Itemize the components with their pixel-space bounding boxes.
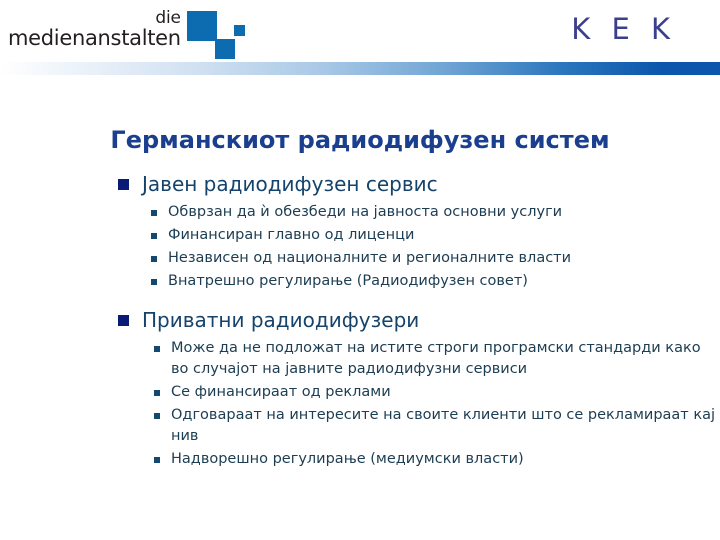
slide-content: Јавен радиодифузен сервис Обврзан да ѝ о… — [0, 154, 720, 470]
section-heading-label: Приватни радиодифузери — [142, 307, 419, 334]
section-spacer — [0, 294, 720, 307]
level2-bullet-icon — [154, 413, 160, 419]
logo-line-medienanstalten: medienanstalten — [8, 28, 181, 49]
die-medienanstalten-logo: die medienanstalten — [8, 8, 253, 61]
list-item-label: Обврзан да ѝ обезбеди на јавноста основн… — [168, 202, 562, 223]
list-item: Независен од националните и регионалните… — [151, 248, 720, 269]
level2-bullet-icon — [154, 457, 160, 463]
level2-bullet-icon — [151, 210, 157, 216]
list-item-label: Финансиран главно од лиценци — [168, 225, 414, 246]
logo-line-die: die — [155, 10, 180, 27]
list-item-label: Може да не подложат на истите строги про… — [171, 338, 720, 380]
slide-header: die medienanstalten K E K — [0, 0, 720, 62]
level1-bullet-icon — [118, 315, 129, 326]
section-heading-public-broadcasting: Јавен радиодифузен сервис — [0, 171, 720, 198]
list-item: Одговараат на интересите на своите клиен… — [154, 405, 720, 447]
logo-square-large-icon — [187, 11, 217, 41]
section-heading-private-broadcasters: Приватни радиодифузери — [0, 307, 720, 334]
slide-body: Германскиот радиодифузен систем Јавен ра… — [0, 75, 720, 470]
section-heading-label: Јавен радиодифузен сервис — [142, 171, 438, 198]
kek-logo: K E K — [571, 12, 676, 46]
list-item-label: Се финансираат од реклами — [171, 382, 391, 403]
level2-bullet-icon — [154, 346, 160, 352]
list-item-label: Независен од националните и регионалните… — [168, 248, 571, 269]
header-gradient-bar — [0, 62, 720, 75]
list-item-label: Одговараат на интересите на своите клиен… — [171, 405, 720, 447]
level2-bullet-icon — [151, 233, 157, 239]
list-item: Може да не подложат на истите строги про… — [154, 338, 720, 380]
logo-squares-icon — [187, 11, 253, 61]
logo-square-small-icon — [234, 25, 245, 36]
list-item: Финансиран главно од лиценци — [151, 225, 720, 246]
logo-square-medium-icon — [215, 39, 235, 59]
logo-wordmark: die medienanstalten — [8, 8, 181, 49]
slide-title: Германскиот радиодифузен систем — [0, 75, 720, 154]
list-item-label: Надворешно регулирање (медиумски власти) — [171, 449, 524, 470]
level1-bullet-icon — [118, 179, 129, 190]
section-points-public-broadcasting: Обврзан да ѝ обезбеди на јавноста основн… — [0, 202, 720, 292]
level2-bullet-icon — [151, 279, 157, 285]
list-item: Надворешно регулирање (медиумски власти) — [154, 449, 720, 470]
list-item: Обврзан да ѝ обезбеди на јавноста основн… — [151, 202, 720, 223]
list-item: Внатрешно регулирање (Радиодифузен совет… — [151, 271, 720, 292]
level2-bullet-icon — [151, 256, 157, 262]
list-item: Се финансираат од реклами — [154, 382, 720, 403]
section-points-private-broadcasters: Може да не подложат на истите строги про… — [0, 338, 720, 470]
level2-bullet-icon — [154, 390, 160, 396]
list-item-label: Внатрешно регулирање (Радиодифузен совет… — [168, 271, 528, 292]
